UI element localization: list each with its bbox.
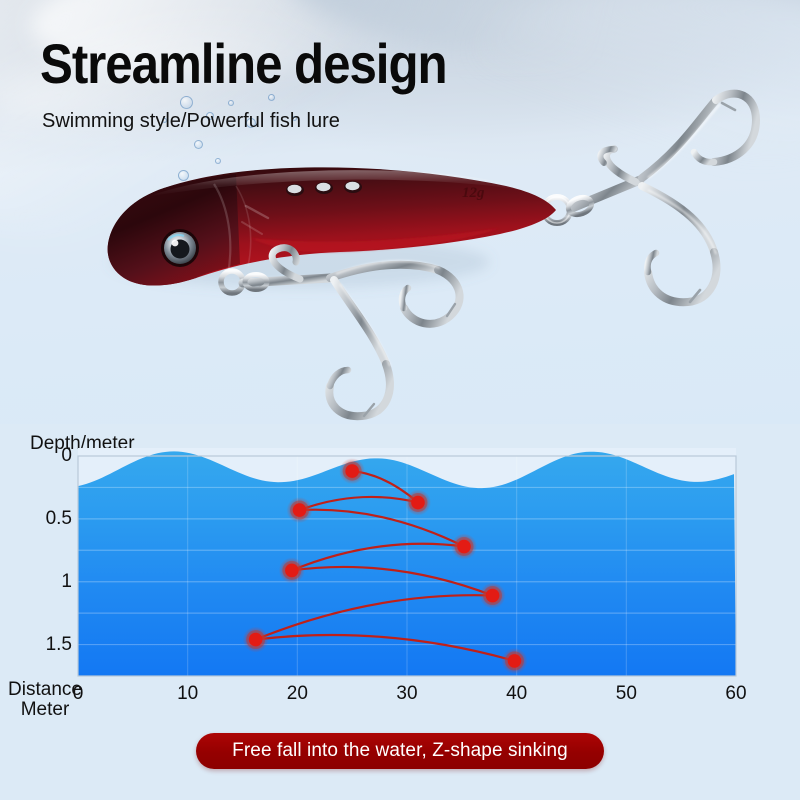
x-axis-tick-label: 30 <box>396 683 417 705</box>
x-axis-tick-label: 50 <box>616 683 637 705</box>
page-subtitle: Swimming style/Powerful fish lure <box>42 110 340 133</box>
y-axis-tick-label: 1.5 <box>10 634 72 656</box>
bubble-icon <box>228 100 234 106</box>
bubble-icon <box>240 178 245 183</box>
x-axis-tick-label: 10 <box>177 683 198 705</box>
callout-banner: Free fall into the water, Z-shape sinkin… <box>196 733 604 769</box>
water-streak-decoration <box>470 0 800 160</box>
callout-banner-text: Free fall into the water, Z-shape sinkin… <box>232 740 568 762</box>
bubble-icon <box>215 158 221 164</box>
bubble-icon <box>194 140 203 149</box>
depth-distance-chart: Depth/meter Distance Meter 00.511.5 0102… <box>0 424 800 724</box>
bubble-icon <box>268 94 275 101</box>
plot-area <box>78 456 736 676</box>
x-axis-tick-label: 60 <box>725 683 746 705</box>
product-infographic-page: Streamline design Swimming style/Powerfu… <box>0 0 800 800</box>
y-axis-tick-label: 0 <box>10 445 72 467</box>
bubble-icon <box>180 96 193 109</box>
bubble-icon <box>200 190 207 197</box>
x-axis-tick-label: 40 <box>506 683 527 705</box>
bubble-icon <box>178 170 189 181</box>
page-title: Streamline design <box>40 36 447 92</box>
x-axis-tick-label: 0 <box>73 683 84 705</box>
y-axis-tick-label: 1 <box>10 571 72 593</box>
y-axis-tick-label: 0.5 <box>10 508 72 530</box>
hero-photo-background: Streamline design Swimming style/Powerfu… <box>0 0 800 430</box>
x-axis-tick-label: 20 <box>287 683 308 705</box>
y-axis-ticks: 00.511.5 <box>4 424 72 724</box>
